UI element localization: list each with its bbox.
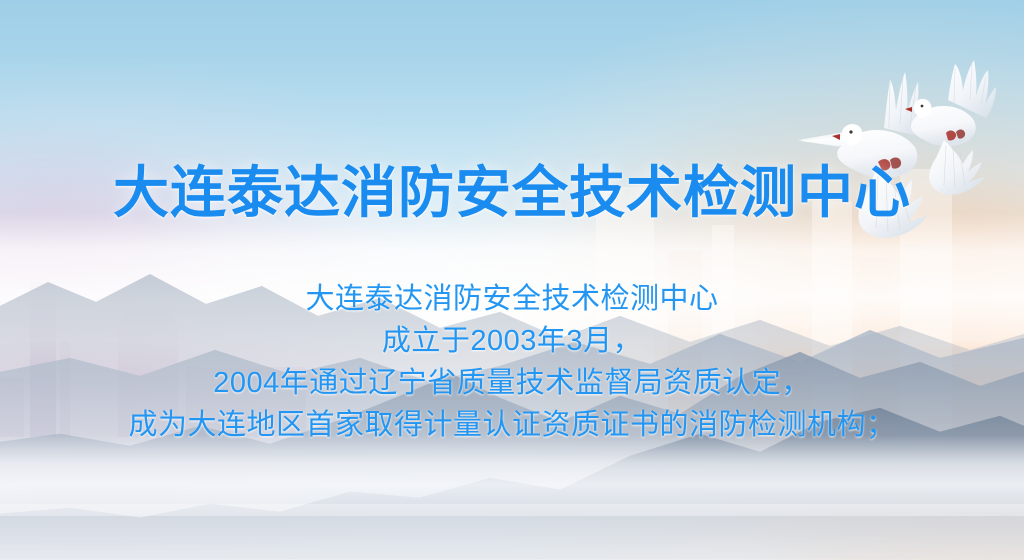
page-title: 大连泰达消防安全技术检测中心	[0, 163, 1024, 223]
description-line-4: 成为大连地区首家取得计量认证资质证书的消防检测机构；	[0, 404, 1024, 446]
slide-text-content: 大连泰达消防安全技术检测中心 大连泰达消防安全技术检测中心 成立于2003年3月…	[0, 0, 1024, 560]
slide-canvas: 大连泰达消防安全技术检测中心 大连泰达消防安全技术检测中心 成立于2003年3月…	[0, 0, 1024, 560]
description-block: 大连泰达消防安全技术检测中心 成立于2003年3月， 2004年通过辽宁省质量技…	[0, 278, 1024, 446]
description-line-1: 大连泰达消防安全技术检测中心	[0, 278, 1024, 320]
description-line-3: 2004年通过辽宁省质量技术监督局资质认定，	[0, 362, 1024, 404]
description-line-2: 成立于2003年3月，	[0, 320, 1024, 362]
